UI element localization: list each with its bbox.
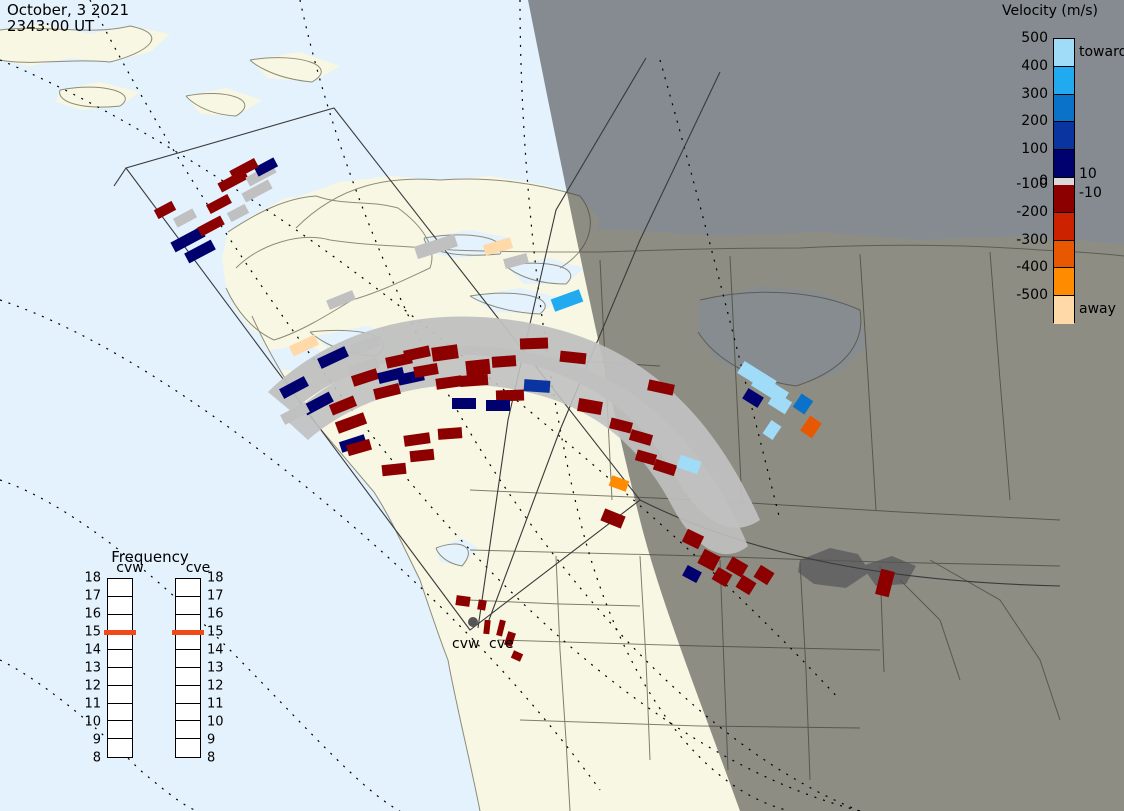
frequency-bar-segment <box>176 686 200 704</box>
frequency-tick-label: 12 <box>207 679 224 694</box>
frequency-bar-segment <box>108 739 132 757</box>
velocity-cell <box>496 390 524 402</box>
frequency-bar-segment <box>176 704 200 722</box>
frequency-tick-label: 8 <box>81 751 101 766</box>
frequency-bar-segment <box>108 686 132 704</box>
velocity-cell <box>492 355 517 368</box>
velocity-cell <box>520 338 548 350</box>
frequency-tick-label: 17 <box>207 589 224 604</box>
velocity-cell <box>524 379 551 393</box>
frequency-tick-label: 9 <box>81 733 101 748</box>
colorbar-band <box>1054 213 1074 241</box>
frequency-bar-segment <box>108 650 132 668</box>
frequency-bar-segment <box>176 650 200 668</box>
frequency-tick-label: 14 <box>81 643 101 658</box>
frequency-tick-label: 12 <box>81 679 101 694</box>
frequency-tick-label: 11 <box>81 697 101 712</box>
frequency-bar-segment <box>108 704 132 722</box>
frequency-tick-label: 11 <box>207 697 224 712</box>
colorbar-band <box>1054 268 1074 296</box>
frequency-bar <box>175 578 201 758</box>
colorbar-band <box>1054 185 1074 213</box>
frequency-bar-segment <box>176 579 200 597</box>
colorbar-tick-label: -400 <box>1016 259 1048 275</box>
colorbar-band <box>1054 150 1074 178</box>
colorbar-tick-label: 300 <box>1021 86 1048 102</box>
frequency-bar-segment <box>108 721 132 739</box>
frequency-bar-segment <box>176 597 200 615</box>
toward-label: toward <box>1079 44 1124 60</box>
colorbar-band <box>1054 178 1074 185</box>
velocity-legend-title: Velocity (m/s) <box>980 3 1120 19</box>
colorbar-tick-label: 200 <box>1021 113 1048 129</box>
frequency-tick-label: 9 <box>207 733 215 748</box>
frequency-bar-segment <box>108 632 132 650</box>
colorbar-band <box>1054 95 1074 123</box>
frequency-bar-segment <box>176 721 200 739</box>
frequency-tick-label: 10 <box>207 715 224 730</box>
colorbar-tick-label: -500 <box>1016 287 1048 303</box>
frequency-tick-label: 15 <box>207 625 224 640</box>
frequency-tick-label: 13 <box>207 661 224 676</box>
frequency-tick-label: 18 <box>207 571 224 586</box>
time-text: 2343:00 UT <box>7 17 94 35</box>
colorbar-band <box>1054 67 1074 95</box>
site-label-cve: cve <box>489 636 514 652</box>
velocity-colorbar <box>1053 38 1075 323</box>
velocity-cell <box>455 595 470 607</box>
frequency-column-label: cvw <box>107 560 153 576</box>
velocity-cell <box>460 374 489 387</box>
frequency-bar-segment <box>176 739 200 757</box>
frequency-bar-segment <box>108 597 132 615</box>
frequency-marker <box>104 630 136 635</box>
frequency-tick-label: 16 <box>207 607 224 622</box>
velocity-cell <box>452 398 476 409</box>
colorbar-tick-label: -200 <box>1016 204 1048 220</box>
radar-map-figure: October, 3 20212343:00 UT Velocity (m/s)… <box>0 0 1124 811</box>
frequency-tick-label: 16 <box>81 607 101 622</box>
away-label: away <box>1079 301 1116 317</box>
frequency-tick-label: 17 <box>81 589 101 604</box>
frequency-bar <box>107 578 133 758</box>
frequency-marker <box>172 630 204 635</box>
frequency-bar-segment <box>176 632 200 650</box>
frequency-legend: Frequency cvw18171615141312111098cve1817… <box>85 545 250 785</box>
site-label-cvw: cvw <box>452 636 479 652</box>
frequency-tick-label: 10 <box>81 715 101 730</box>
colorbar-tick-label: 500 <box>1021 30 1048 46</box>
inner-minus-label: -10 <box>1079 185 1102 201</box>
frequency-tick-label: 14 <box>207 643 224 658</box>
velocity-cell <box>477 599 487 610</box>
velocity-legend: Velocity (m/s) 5004003002001000-100-200-… <box>975 0 1124 340</box>
frequency-tick-label: 8 <box>207 751 215 766</box>
colorbar-tick-label: 100 <box>1021 141 1048 157</box>
colorbar-band <box>1054 122 1074 150</box>
frequency-bar-segment <box>108 668 132 686</box>
frequency-tick-label: 13 <box>81 661 101 676</box>
velocity-cell <box>486 400 510 411</box>
frequency-bar-segment <box>176 668 200 686</box>
frequency-bar-segment <box>108 579 132 597</box>
timestamp-label: October, 3 20212343:00 UT <box>7 2 129 34</box>
colorbar-tick-label: -300 <box>1016 232 1048 248</box>
velocity-cell <box>438 427 463 440</box>
colorbar-band <box>1054 296 1074 324</box>
colorbar-band <box>1054 241 1074 269</box>
frequency-tick-label: 15 <box>81 625 101 640</box>
velocity-cell <box>465 359 490 376</box>
colorbar-tick-label: 400 <box>1021 58 1048 74</box>
colorbar-tick-label: -100 <box>1016 176 1048 192</box>
colorbar-band <box>1054 39 1074 67</box>
inner-plus-label: 10 <box>1079 166 1097 182</box>
radar-site-marker <box>468 617 478 627</box>
frequency-tick-label: 18 <box>81 571 101 586</box>
